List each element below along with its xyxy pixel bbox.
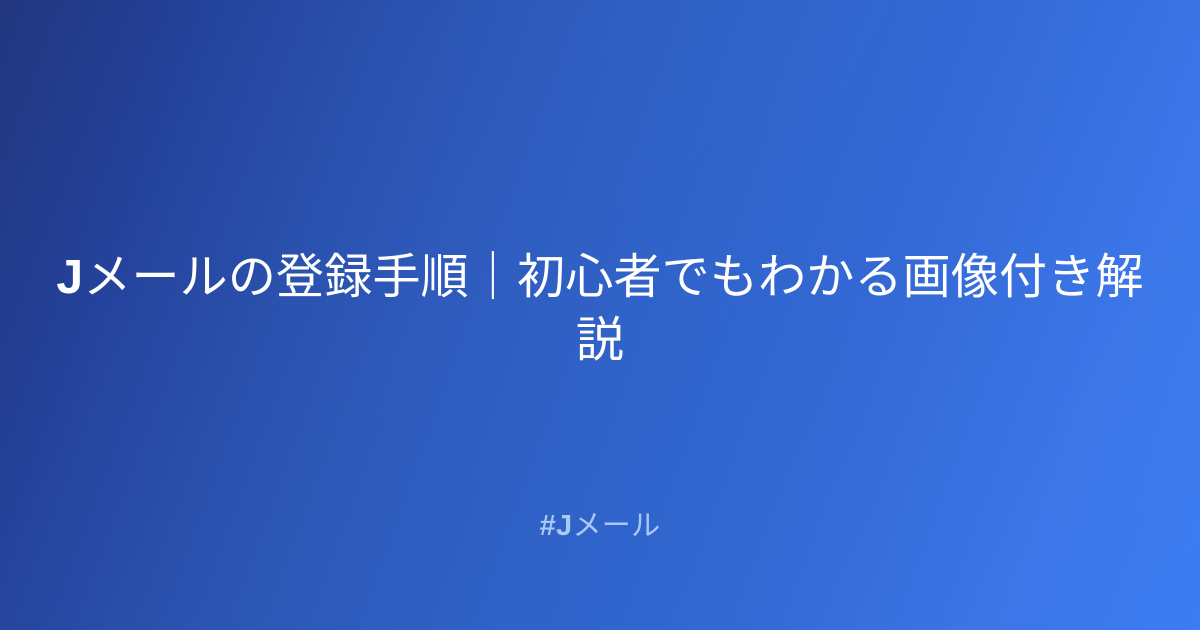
page-title-latin-prefix: J <box>56 251 83 304</box>
page-title-text: メールの登録手順｜初心者でもわかる画像付き解説 <box>83 251 1143 367</box>
hashtag-latin-prefix: #J <box>540 510 573 542</box>
page-title: Jメールの登録手順｜初心者でもわかる画像付き解説 <box>52 246 1148 373</box>
hashtag-block: #Jメール <box>0 508 1200 546</box>
title-block: Jメールの登録手順｜初心者でもわかる画像付き解説 <box>0 246 1200 373</box>
hashtag-label[interactable]: #Jメール <box>540 508 661 546</box>
ogp-share-card: Jメールの登録手順｜初心者でもわかる画像付き解説 #Jメール <box>0 0 1200 630</box>
hashtag-text: メール <box>572 510 660 542</box>
